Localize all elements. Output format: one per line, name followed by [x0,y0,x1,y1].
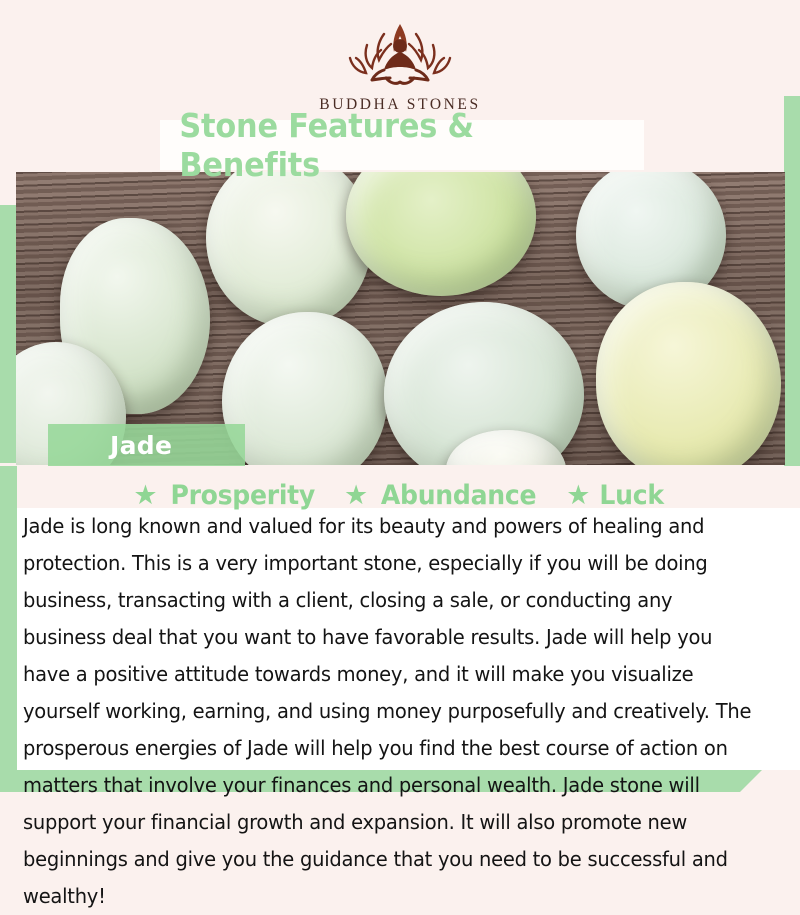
accent-bar-left-lower [0,466,17,778]
star-icon: ★ [344,482,368,509]
benefits-row: ★ Prosperity ★ Abundance ★ Luck [0,478,800,512]
benefit-label: Prosperity [170,480,315,511]
benefit-item-prosperity: ★ Prosperity [133,480,320,511]
stone-name-label: Jade [110,431,172,460]
brand-logo-block: BUDDHA STONES [0,18,800,114]
accent-bar-left-upper [0,205,17,463]
stone-name-bar: Jade [48,424,245,466]
benefit-item-abundance: ★ Abundance [344,480,542,511]
benefit-item-luck: ★ Luck [566,480,666,511]
star-icon: ★ [133,482,157,509]
benefit-label: Abundance [381,480,536,511]
title-banner: Stone Features & Benefits [160,120,644,170]
lotus-meditation-icon [334,18,466,92]
jade-stones-photo [16,172,785,465]
page-title: Stone Features & Benefits [179,106,624,184]
benefit-label: Luck [600,480,664,511]
accent-bar-right-upper [784,96,800,466]
description-text: Jade is long known and valued for its be… [23,508,755,915]
description-panel: Jade is long known and valued for its be… [17,508,800,770]
star-icon: ★ [566,482,590,509]
